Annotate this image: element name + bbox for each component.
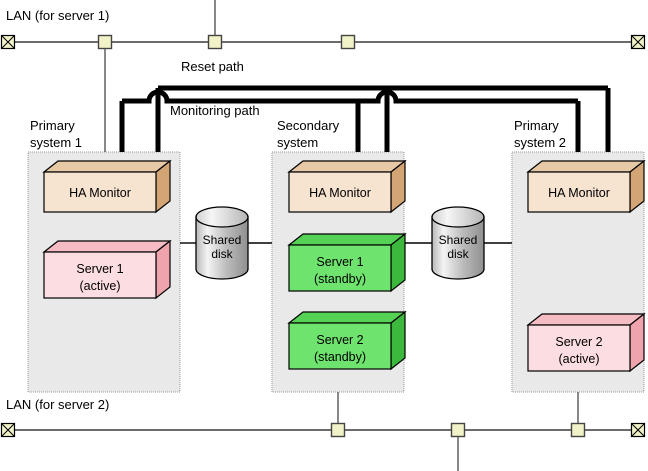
disk-label-line2: disk — [447, 247, 469, 261]
disk-label-line1: Shared — [203, 233, 242, 247]
path-label-reset-path: Reset path — [181, 59, 244, 74]
lan-tap-1[interactable] — [99, 36, 112, 49]
ha-monitor-1[interactable]: HA Monitor — [44, 161, 170, 212]
monitoring-path-horizontal[interactable] — [122, 92, 578, 101]
diagram-canvas: ShareddiskShareddisk HA MonitorServer 1(… — [0, 0, 648, 471]
box-top-face — [289, 312, 405, 323]
lan-terminator-1[interactable] — [2, 36, 15, 49]
box-label-line1: Server 2 — [316, 333, 363, 347]
box-label-line1: HA Monitor — [309, 186, 371, 200]
shared-disk-1[interactable]: Shareddisk — [196, 207, 248, 279]
system-label-primary-system-1-line2: system 1 — [30, 135, 82, 150]
ha-monitor-3[interactable]: HA Monitor — [528, 161, 644, 212]
diagram-svg: ShareddiskShareddisk HA MonitorServer 1(… — [0, 0, 648, 471]
box-label-line1: Server 1 — [316, 255, 363, 269]
system-label-primary-system-1-line1: Primary — [30, 118, 75, 133]
lan-label-lan-bottom: LAN (for server 2) — [6, 397, 109, 412]
box-top-face — [289, 234, 405, 245]
box-top-face — [44, 241, 170, 252]
system-label-primary-system-2-line1: Primary — [514, 118, 559, 133]
server-2-standby[interactable]: Server 2(standby) — [289, 312, 405, 369]
box-label-line2: (active) — [80, 279, 121, 293]
lan-terminator-2[interactable] — [632, 36, 645, 49]
server-1-active[interactable]: Server 1(active) — [44, 241, 170, 298]
lan-terminator-2[interactable] — [632, 424, 645, 437]
box-label-line2: (active) — [559, 352, 600, 366]
box-label-line1: Server 1 — [76, 262, 123, 276]
box-label-line1: Server 2 — [555, 335, 602, 349]
lan-tap-2[interactable] — [209, 36, 222, 49]
ha-monitor-2[interactable]: HA Monitor — [289, 161, 405, 212]
shared-disk-2[interactable]: Shareddisk — [432, 207, 484, 279]
system-label-secondary-system-line1: Secondary — [277, 118, 340, 133]
path-label-monitoring-path: Monitoring path — [170, 103, 260, 118]
server-2-active[interactable]: Server 2(active) — [528, 314, 644, 371]
box-top-face — [44, 161, 170, 172]
disk-top — [196, 207, 248, 227]
lan-terminator-1[interactable] — [2, 424, 15, 437]
box-top-face — [289, 161, 405, 172]
disk-label-line2: disk — [211, 247, 233, 261]
lan-tap-3[interactable] — [572, 424, 585, 437]
server-1-standby[interactable]: Server 1(standby) — [289, 234, 405, 291]
lan-tap-1[interactable] — [332, 424, 345, 437]
disk-top — [432, 207, 484, 227]
box-top-face — [528, 314, 644, 325]
box-label-line1: HA Monitor — [548, 186, 610, 200]
system-label-primary-system-2-line2: system 2 — [514, 135, 566, 150]
box-top-face — [528, 161, 644, 172]
box-label-line1: HA Monitor — [69, 186, 131, 200]
lan-tap-2[interactable] — [452, 424, 465, 437]
lan-tap-3[interactable] — [342, 36, 355, 49]
disk-label-line1: Shared — [439, 233, 478, 247]
box-label-line2: (standby) — [314, 350, 366, 364]
box-label-line2: (standby) — [314, 272, 366, 286]
system-label-secondary-system-line2: system — [277, 135, 318, 150]
lan-label-lan-top: LAN (for server 1) — [6, 8, 109, 23]
